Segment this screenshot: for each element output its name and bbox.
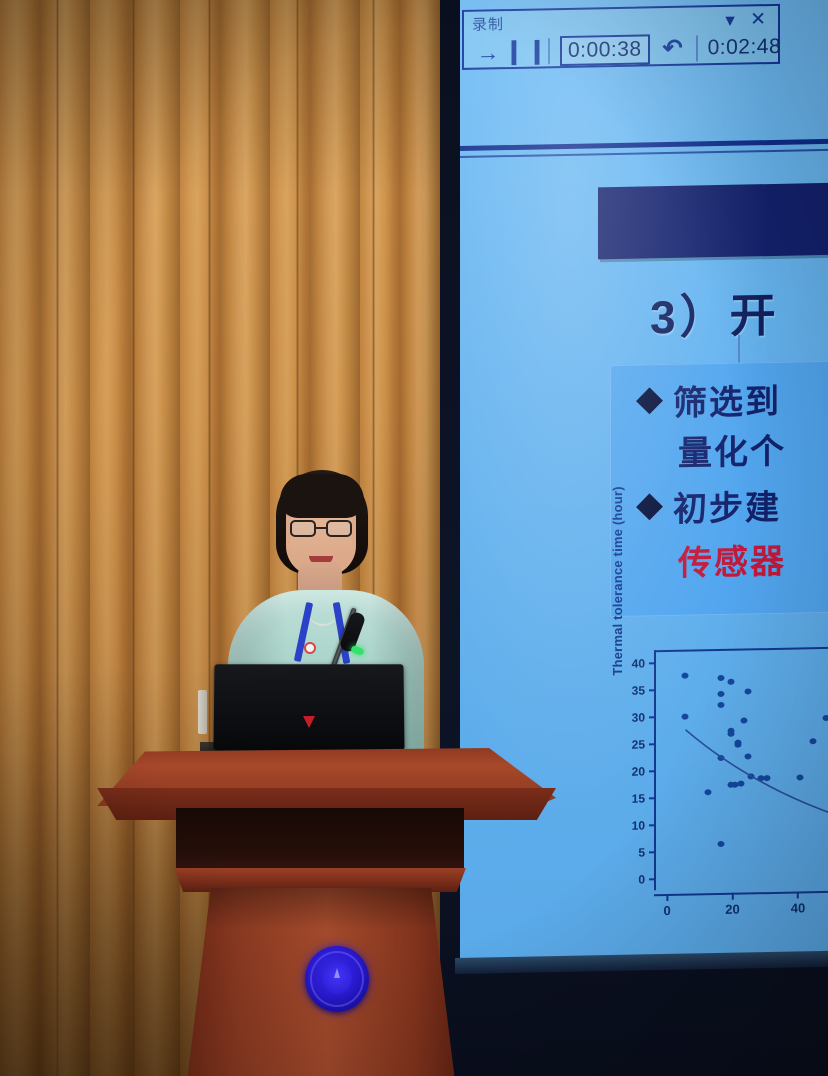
hair-fringe bbox=[280, 474, 364, 518]
slide-bullet-text: 量化个 bbox=[678, 424, 786, 475]
chart-y-tick: 25 bbox=[632, 737, 656, 751]
chart-y-tick: 40 bbox=[632, 656, 656, 670]
arrow-right-icon[interactable]: → bbox=[470, 41, 506, 65]
toolbar-divider bbox=[548, 38, 550, 64]
projection-screen: 录制 ▼ ✕ → ❙❙ 0:00:38 ↶ 0:02:48 3）开 bbox=[460, 0, 828, 972]
slide-divider-line bbox=[460, 149, 828, 158]
undo-arrow-icon[interactable]: ↶ bbox=[660, 37, 686, 61]
diamond-bullet-icon bbox=[636, 493, 663, 520]
chart-y-tick: 0 bbox=[638, 872, 656, 886]
chart-x-tick-label: 0 bbox=[663, 903, 670, 918]
chart-x-tick: 40 bbox=[791, 891, 805, 915]
slide-bullet-2: 量化个 bbox=[678, 424, 786, 475]
scatter-chart: Thermal tolerance time (hour) 0510152025… bbox=[612, 641, 828, 935]
diamond-bullet-icon bbox=[636, 387, 663, 414]
curtain-fold bbox=[56, 0, 59, 1076]
chart-y-tick: 15 bbox=[632, 791, 656, 805]
chart-y-tick-label: 35 bbox=[632, 683, 645, 697]
chart-y-tick-label: 30 bbox=[632, 710, 645, 724]
total-time-label: 0:02:48 bbox=[708, 35, 782, 60]
chart-x-tick-label: 40 bbox=[791, 900, 805, 915]
right-lens bbox=[326, 520, 352, 537]
university-seal-emblem bbox=[305, 946, 369, 1012]
chart-y-tick: 5 bbox=[638, 845, 656, 859]
chart-y-tick: 35 bbox=[632, 683, 656, 697]
slide-heading: 3）开 bbox=[650, 279, 780, 347]
chart-plot-area: 0510152025303540 bbox=[654, 646, 828, 890]
chart-y-tick-mark bbox=[649, 689, 656, 691]
chart-y-tick: 20 bbox=[632, 764, 656, 778]
chart-x-tick-mark bbox=[732, 893, 734, 900]
close-icon[interactable]: ✕ bbox=[750, 8, 766, 31]
slide-bullet-1: 筛选到 bbox=[640, 374, 781, 426]
slide-bullet-text-highlight: 传感器 bbox=[678, 534, 786, 585]
chart-y-tick-label: 40 bbox=[632, 656, 645, 670]
chart-x-tick: 20 bbox=[725, 893, 739, 917]
chart-trendline bbox=[656, 648, 828, 892]
elapsed-time-field[interactable]: 0:00:38 bbox=[560, 34, 650, 66]
chart-y-tick-mark bbox=[649, 878, 656, 880]
chart-x-tick-mark bbox=[797, 891, 799, 898]
emblem-core bbox=[322, 962, 352, 994]
presenter-laptop[interactable] bbox=[213, 664, 404, 750]
chart-y-tick-mark bbox=[649, 797, 656, 799]
pause-icon[interactable]: ❙❙ bbox=[516, 40, 538, 64]
curtain-fold bbox=[132, 0, 135, 1076]
slide-bullet-3: 初步建 bbox=[640, 480, 781, 532]
slide-bullet-4: 传感器 bbox=[678, 534, 786, 585]
recording-toolbar[interactable]: 录制 ▼ ✕ → ❙❙ 0:00:38 ↶ 0:02:48 bbox=[462, 4, 780, 70]
chart-y-tick-mark bbox=[649, 716, 656, 718]
laptop-hinge bbox=[198, 690, 207, 734]
chart-y-tick-label: 10 bbox=[632, 819, 645, 833]
glasses-bridge bbox=[316, 527, 326, 529]
chart-y-tick-mark bbox=[649, 770, 656, 772]
chart-y-axis-label: Thermal tolerance time (hour) bbox=[610, 481, 625, 681]
podium-recess bbox=[176, 808, 464, 872]
slide-surface: 录制 ▼ ✕ → ❙❙ 0:00:38 ↶ 0:02:48 3）开 bbox=[460, 0, 828, 972]
chart-y-tick-label: 20 bbox=[632, 764, 645, 778]
chart-y-tick-label: 15 bbox=[632, 791, 645, 805]
left-lens bbox=[290, 520, 316, 537]
eyeglasses-icon bbox=[290, 520, 352, 537]
chart-y-tick: 10 bbox=[632, 818, 656, 832]
chart-y-tick-label: 0 bbox=[638, 873, 645, 887]
photo-scene: 录制 ▼ ✕ → ❙❙ 0:00:38 ↶ 0:02:48 3）开 bbox=[0, 0, 828, 1076]
chart-y-tick: 30 bbox=[632, 710, 656, 724]
slide-title-banner bbox=[598, 182, 828, 259]
recording-toolbar-label: 录制 bbox=[472, 13, 504, 35]
chart-x-tick: 0 bbox=[663, 894, 670, 918]
chart-y-tick-label: 25 bbox=[632, 737, 645, 751]
chart-y-tick-mark bbox=[649, 851, 656, 853]
toolbar-divider bbox=[696, 35, 698, 61]
chart-y-tick-mark bbox=[649, 824, 656, 826]
slide-bullet-text: 筛选到 bbox=[673, 374, 781, 425]
slide-content-box: 筛选到 量化个 初步建 传感器 bbox=[610, 361, 828, 618]
chart-y-tick-mark bbox=[649, 743, 656, 745]
chart-x-tick-mark bbox=[666, 894, 668, 901]
badge-pin bbox=[304, 642, 316, 654]
red-triangle-logo-icon bbox=[303, 716, 315, 728]
chevron-down-icon[interactable]: ▼ bbox=[722, 13, 738, 31]
slide-bullet-text: 初步建 bbox=[673, 480, 781, 531]
chart-x-tick-label: 20 bbox=[725, 902, 739, 917]
recording-controls-row: → ❙❙ 0:00:38 ↶ 0:02:48 bbox=[470, 30, 781, 70]
chart-y-tick-label: 5 bbox=[638, 846, 645, 860]
chart-y-tick-mark bbox=[649, 662, 656, 664]
